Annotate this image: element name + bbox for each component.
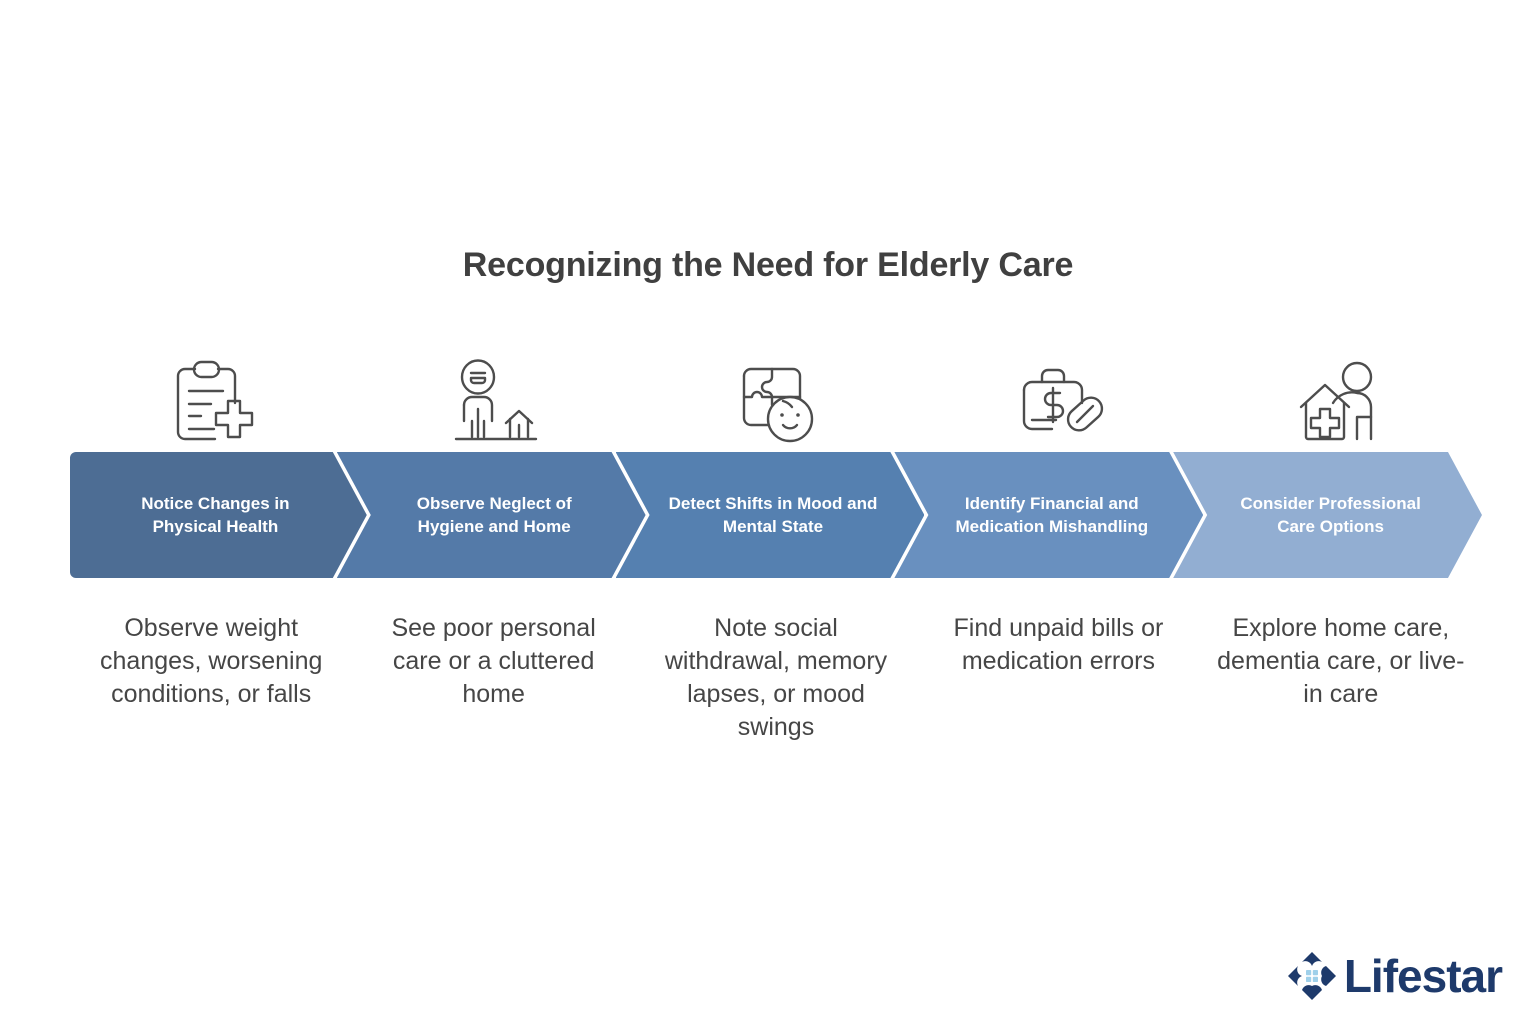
step-3-description: Note social withdrawal, memory lapses, o… <box>635 612 917 744</box>
chevron-step-3-label: Detect Shifts in Mood and Mental State <box>668 492 879 539</box>
lifestar-petal-mark-icon <box>1286 950 1338 1002</box>
care-home-person-icon <box>1295 359 1387 449</box>
step-4-description: Find unpaid bills or medication errors <box>917 612 1199 678</box>
process-chevron-band: Notice Changes in Physical Health Observ… <box>70 452 1482 578</box>
step-descriptions-row: Observe weight changes, worsening condit… <box>70 612 1482 744</box>
chevron-step-2-label: Observe Neglect of Hygiene and Home <box>389 492 600 539</box>
infographic-canvas: Recognizing the Need for Elderly Care <box>0 0 1536 1024</box>
chevron-step-5[interactable]: Consider Professional Care Options <box>1173 452 1482 578</box>
step-1-icon-cell <box>70 356 352 452</box>
step-3-icon-cell <box>635 356 917 452</box>
person-with-house-icon <box>448 359 540 449</box>
step-5-description: Explore home care, dementia care, or liv… <box>1200 612 1482 711</box>
chevron-step-5-label: Consider Professional Care Options <box>1225 492 1436 539</box>
step-1-description: Observe weight changes, worsening condit… <box>70 612 352 711</box>
logo-wordmark: Lifestar <box>1344 953 1502 999</box>
chevron-step-2[interactable]: Observe Neglect of Hygiene and Home <box>337 452 646 578</box>
chevron-step-4[interactable]: Identify Financial and Medication Mishan… <box>894 452 1203 578</box>
step-4-icon-cell <box>917 356 1199 452</box>
page-title: Recognizing the Need for Elderly Care <box>0 246 1536 285</box>
chevron-step-4-label: Identify Financial and Medication Mishan… <box>946 492 1157 539</box>
chevron-step-1-label: Notice Changes in Physical Health <box>110 492 321 539</box>
medical-clipboard-icon <box>165 359 257 449</box>
step-2-icon-cell <box>352 356 634 452</box>
puzzle-face-icon <box>730 359 822 449</box>
icons-row <box>70 356 1482 452</box>
chevron-step-1[interactable]: Notice Changes in Physical Health <box>70 452 367 578</box>
brand-logo[interactable]: Lifestar <box>1286 950 1502 1002</box>
briefcase-dollar-pill-icon <box>1012 359 1104 449</box>
step-2-description: See poor personal care or a cluttered ho… <box>352 612 634 711</box>
step-5-icon-cell <box>1200 356 1482 452</box>
chevron-step-3[interactable]: Detect Shifts in Mood and Mental State <box>616 452 925 578</box>
